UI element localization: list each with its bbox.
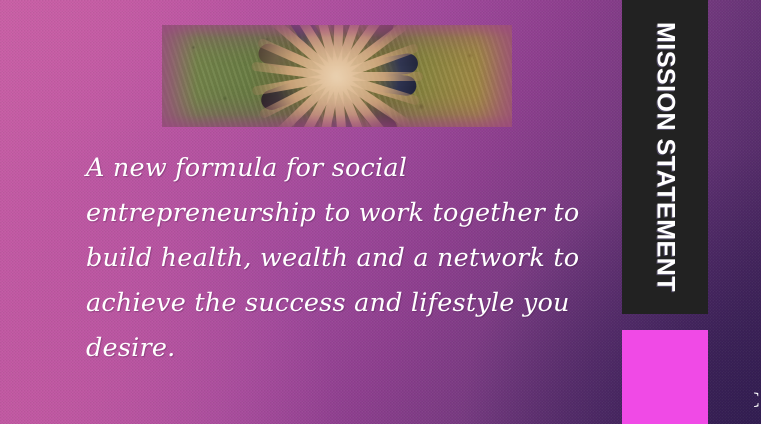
photo-vignette [162, 25, 512, 127]
slide-canvas: A new formula for social entrepreneurshi… [0, 0, 761, 424]
cutoff-edge-glyph-text: C [754, 390, 761, 410]
mission-statement-text: A new formula for social entrepreneurshi… [86, 146, 586, 371]
mission-statement-title-panel: MISSION STATEMENT [622, 0, 708, 314]
mission-statement-title-label: MISSION STATEMENT [651, 22, 680, 292]
team-circle-hands-photo [162, 25, 512, 127]
cutoff-edge-glyph: C [754, 390, 761, 410]
magenta-accent-block [622, 330, 708, 424]
